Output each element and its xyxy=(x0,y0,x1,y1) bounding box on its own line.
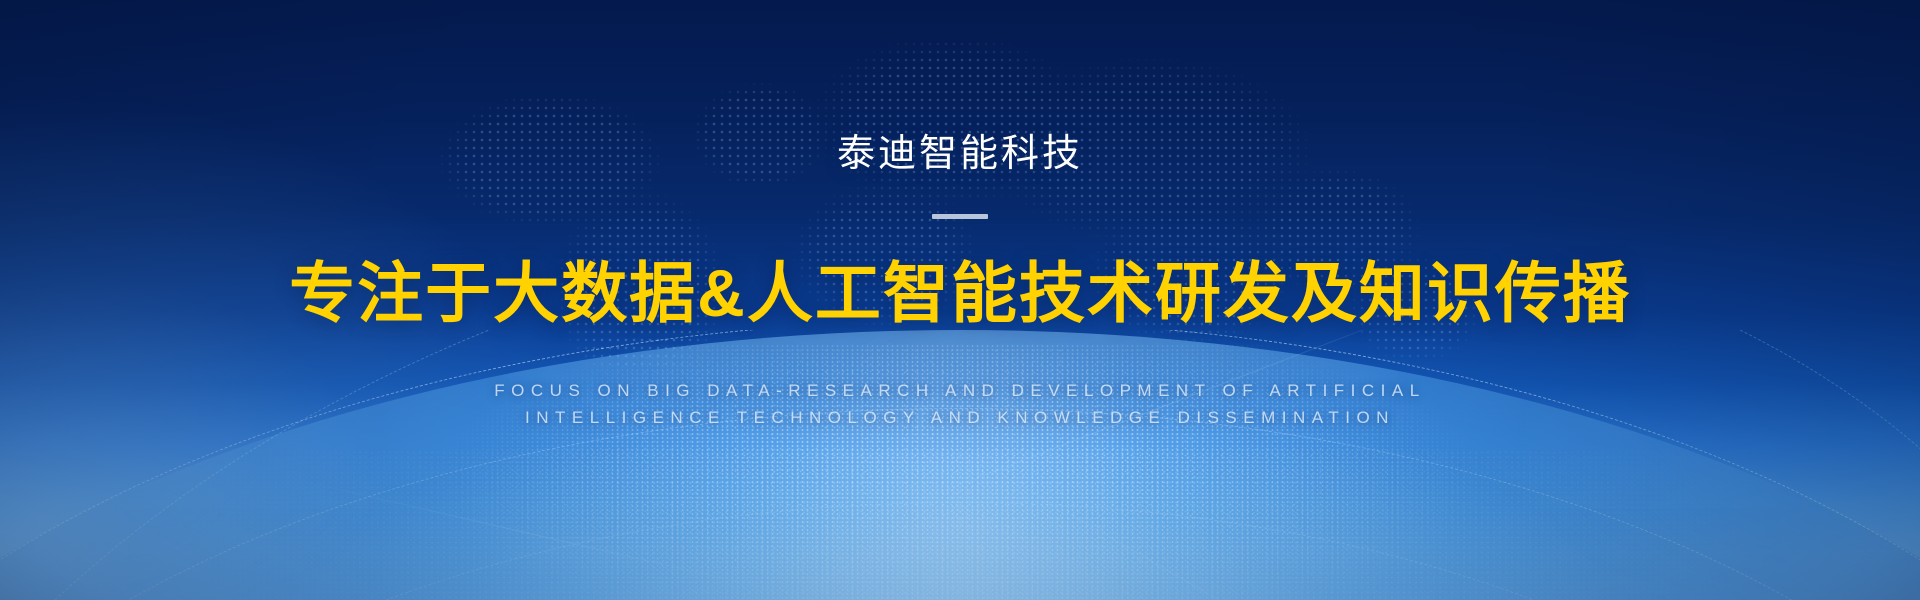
subtitle-line-1: FOCUS ON BIG DATA-RESEARCH AND DEVELOPME… xyxy=(0,377,1920,405)
hero-banner: 泰迪智能科技 专注于大数据&人工智能技术研发及知识传播 FOCUS ON BIG… xyxy=(0,0,1920,600)
title-divider xyxy=(932,214,988,219)
subtitle-block: FOCUS ON BIG DATA-RESEARCH AND DEVELOPME… xyxy=(0,377,1920,432)
headline-text: 专注于大数据&人工智能技术研发及知识传播 xyxy=(0,255,1920,333)
brand-name: 泰迪智能科技 xyxy=(0,132,1920,178)
banner-content: 泰迪智能科技 专注于大数据&人工智能技术研发及知识传播 FOCUS ON BIG… xyxy=(0,0,1920,432)
subtitle-line-2: INTELLIGENCE TECHNOLOGY AND KNOWLEDGE DI… xyxy=(0,404,1920,432)
